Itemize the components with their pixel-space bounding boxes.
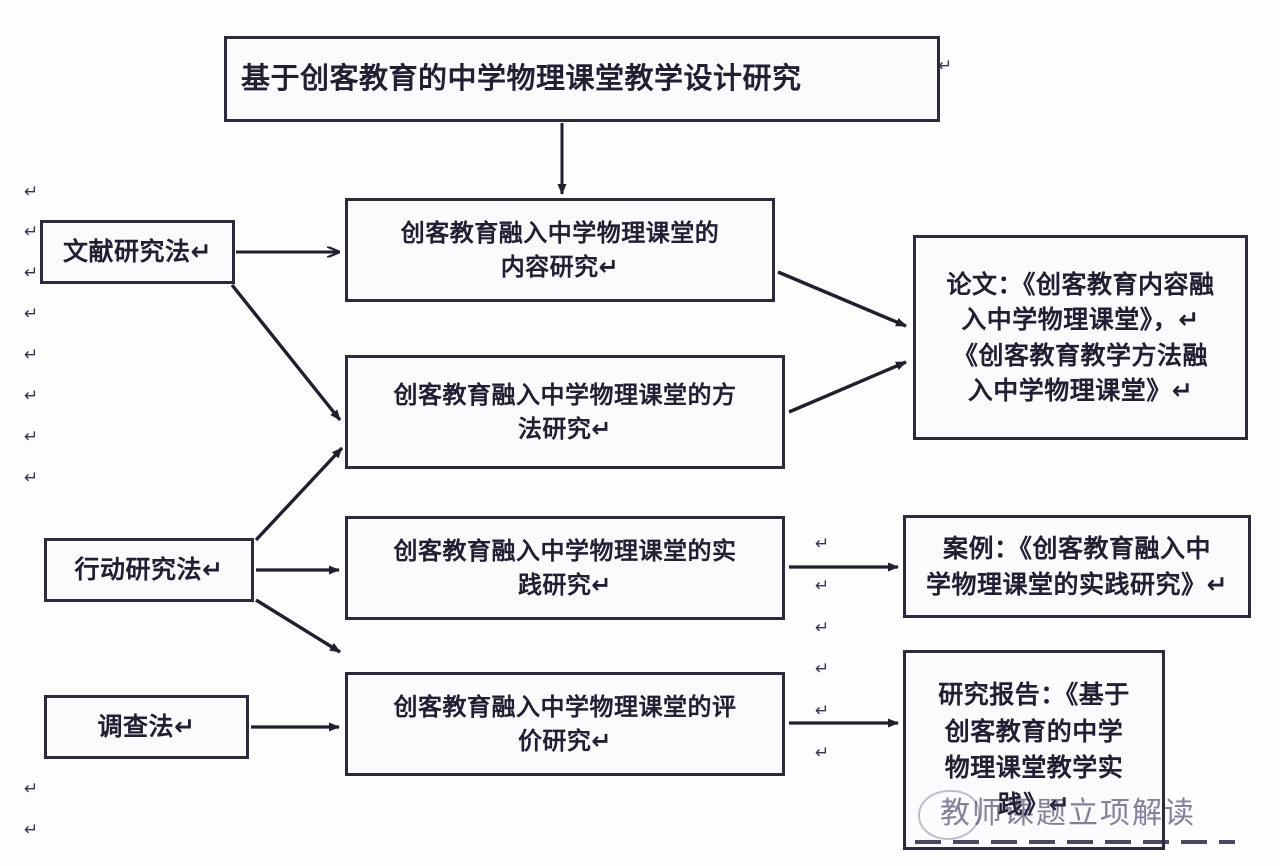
method-label-action: 行动研究法↵ xyxy=(53,552,245,588)
result-report-line3: 物理课堂教学实 xyxy=(945,753,1124,782)
topic-label-method: 创客教育融入中学物理课堂的方 法研究↵ xyxy=(354,378,776,446)
result-paper-line4: 入中学物理课堂》↵ xyxy=(968,376,1193,405)
pilcrow-gap-middle: ↵ xyxy=(815,661,829,678)
topic-method-line1: 创客教育融入中学物理课堂的方 xyxy=(394,381,737,409)
topic-box-content: 创客教育融入中学物理课堂的 内容研究↵ xyxy=(345,198,775,302)
result-case-line2: 学物理课堂的实践研究》↵ xyxy=(926,570,1228,599)
pilcrow-margin-left: ↵ xyxy=(24,429,38,446)
result-report-line2: 创客教育的中学 xyxy=(945,717,1124,746)
result-label-paper: 论文：《创客教育内容融 入中学物理课堂》，↵ 《创客教育教学方法融 入中学物理课… xyxy=(922,267,1239,409)
result-report-line1: 研究报告：《基于 xyxy=(938,680,1130,709)
topic-label-evaluation: 创客教育融入中学物理课堂的评 价研究↵ xyxy=(354,690,776,758)
result-paper-line3: 《创客教育教学方法融 xyxy=(953,341,1208,370)
topic-practice-line1: 创客教育融入中学物理课堂的实 xyxy=(394,537,737,565)
topic-evaluation-line1: 创客教育融入中学物理课堂的评 xyxy=(394,693,737,721)
pilcrow-margin-left: ↵ xyxy=(24,470,38,487)
method-box-survey: 调查法↵ xyxy=(44,695,249,759)
pilcrow-margin-left: ↵ xyxy=(24,822,38,839)
arrow-action-to-evaluation xyxy=(256,600,340,652)
topic-label-content: 创客教育融入中学物理课堂的 内容研究↵ xyxy=(354,216,766,284)
topic-practice-line2: 践研究↵ xyxy=(518,571,612,599)
pilcrow-margin-left: ↵ xyxy=(24,347,38,364)
pilcrow-gap-middle: ↵ xyxy=(815,536,829,553)
arrow-action-to-method xyxy=(256,448,342,540)
arrow-literature-to-method xyxy=(232,285,340,420)
pilcrow-gap-middle: ↵ xyxy=(815,620,829,637)
topic-box-practice: 创客教育融入中学物理课堂的实 践研究↵ xyxy=(345,516,785,620)
topic-box-method: 创客教育融入中学物理课堂的方 法研究↵ xyxy=(345,355,785,469)
watermark-text: 教师课题立项解读 xyxy=(940,788,1196,832)
result-paper-line1: 论文：《创客教育内容融 xyxy=(946,270,1214,299)
result-paper-line2: 入中学物理课堂》，↵ xyxy=(961,305,1199,334)
result-label-case: 案例：《创客教育融入中 学物理课堂的实践研究》↵ xyxy=(912,531,1242,602)
topic-box-evaluation: 创客教育融入中学物理课堂的评 价研究↵ xyxy=(345,672,785,776)
arrow-method-to-paper xyxy=(789,362,906,412)
pilcrow-gap-middle: ↵ xyxy=(815,578,829,595)
pilcrow-gap-middle: ↵ xyxy=(815,703,829,720)
result-case-line1: 案例：《创客教育融入中 xyxy=(943,534,1211,563)
method-label-literature: 文献研究法↵ xyxy=(49,234,226,270)
title-label: 基于创客教育的中学物理课堂教学设计研究 xyxy=(241,58,931,99)
method-label-survey: 调查法↵ xyxy=(53,709,240,745)
topic-evaluation-line2: 价研究↵ xyxy=(518,727,612,755)
pilcrow-margin-left: ↵ xyxy=(24,306,38,323)
result-box-paper: 论文：《创客教育内容融 入中学物理课堂》，↵ 《创客教育教学方法融 入中学物理课… xyxy=(913,235,1248,440)
arrow-content-to-paper xyxy=(778,272,906,326)
pilcrow-title: ↵ xyxy=(938,58,952,75)
pilcrow-margin-left: ↵ xyxy=(24,781,38,798)
pilcrow-margin-left: ↵ xyxy=(24,184,38,201)
topic-content-line2: 内容研究↵ xyxy=(501,253,620,281)
pilcrow-margin-left: ↵ xyxy=(24,265,38,282)
topic-content-line1: 创客教育融入中学物理课堂的 xyxy=(401,219,720,247)
title-box: 基于创客教育的中学物理课堂教学设计研究 xyxy=(224,36,940,122)
result-box-case: 案例：《创客教育融入中 学物理课堂的实践研究》↵ xyxy=(903,515,1251,618)
method-box-literature: 文献研究法↵ xyxy=(40,220,235,284)
pilcrow-margin-left: ↵ xyxy=(24,224,38,241)
watermark-underline xyxy=(915,840,1235,844)
pilcrow-gap-middle: ↵ xyxy=(815,745,829,762)
topic-label-practice: 创客教育融入中学物理课堂的实 践研究↵ xyxy=(354,534,776,602)
pilcrow-margin-left: ↵ xyxy=(24,388,38,405)
diagram-canvas: 基于创客教育的中学物理课堂教学设计研究 ↵ 文献研究法↵ 行动研究法↵ 调查法↵… xyxy=(0,0,1280,866)
topic-method-line2: 法研究↵ xyxy=(518,415,612,443)
method-box-action: 行动研究法↵ xyxy=(44,538,254,602)
